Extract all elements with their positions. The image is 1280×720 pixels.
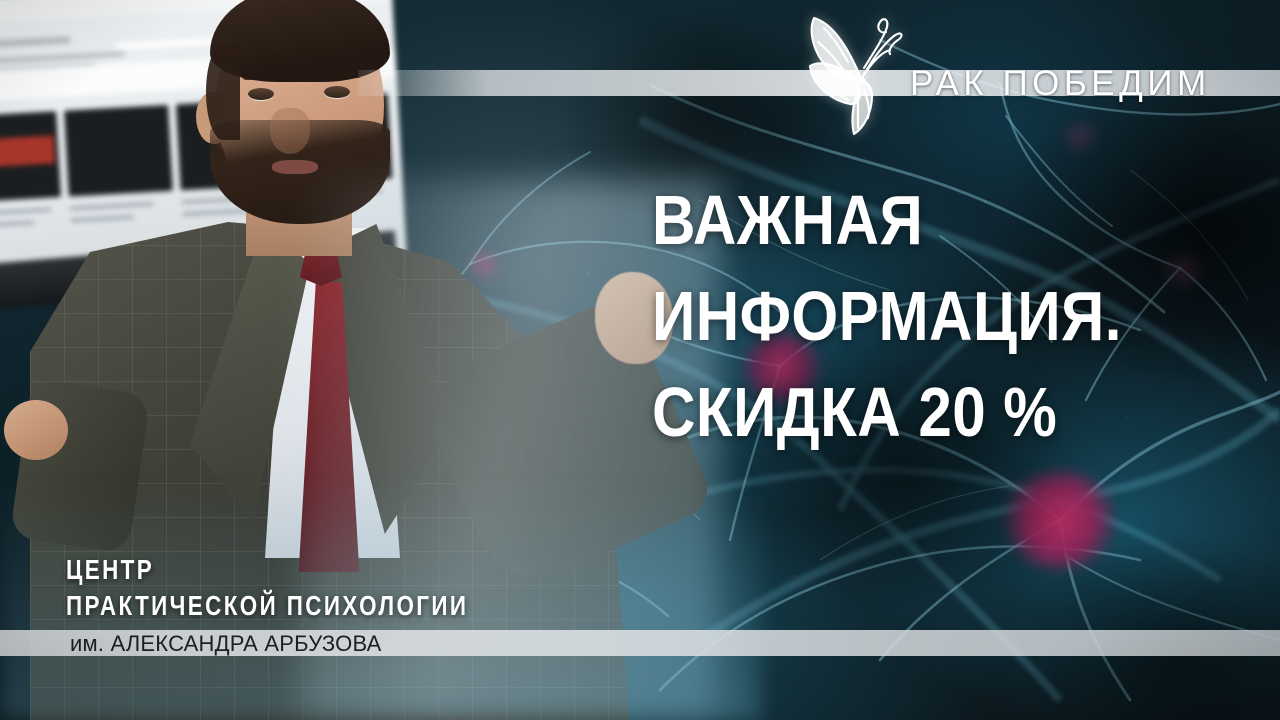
presenter-hand-lower (4, 400, 68, 460)
video-thumbnail: РАК ПОБЕДИМ ВАЖНАЯ ИНФОРМАЦИЯ. СКИДКА 20… (0, 0, 1280, 720)
headline-line-1: ВАЖНАЯ (652, 172, 1185, 268)
headline-line-3: СКИДКА 20 % (652, 364, 1185, 460)
organization-subtitle: им. АЛЕКСАНДРА АРБУЗОВА (70, 632, 770, 656)
brand-title: РАК ПОБЕДИМ (910, 62, 1270, 106)
butterfly-icon (798, 2, 918, 142)
presenter-mouth (272, 160, 318, 174)
presenter-iris (324, 86, 350, 98)
headline-line-2: ИНФОРМАЦИЯ. (652, 268, 1185, 364)
presenter-nose (270, 108, 310, 154)
organization-name: ЦЕНТР ПРАКТИЧЕСКОЙ ПСИХОЛОГИИ (66, 552, 626, 624)
organization-line-2: ПРАКТИЧЕСКОЙ ПСИХОЛОГИИ (66, 588, 626, 624)
organization-line-1: ЦЕНТР (66, 552, 626, 588)
headline-block: ВАЖНАЯ ИНФОРМАЦИЯ. СКИДКА 20 % (652, 172, 1185, 460)
presenter-iris (248, 88, 274, 100)
presenter-hair-side (206, 44, 240, 140)
